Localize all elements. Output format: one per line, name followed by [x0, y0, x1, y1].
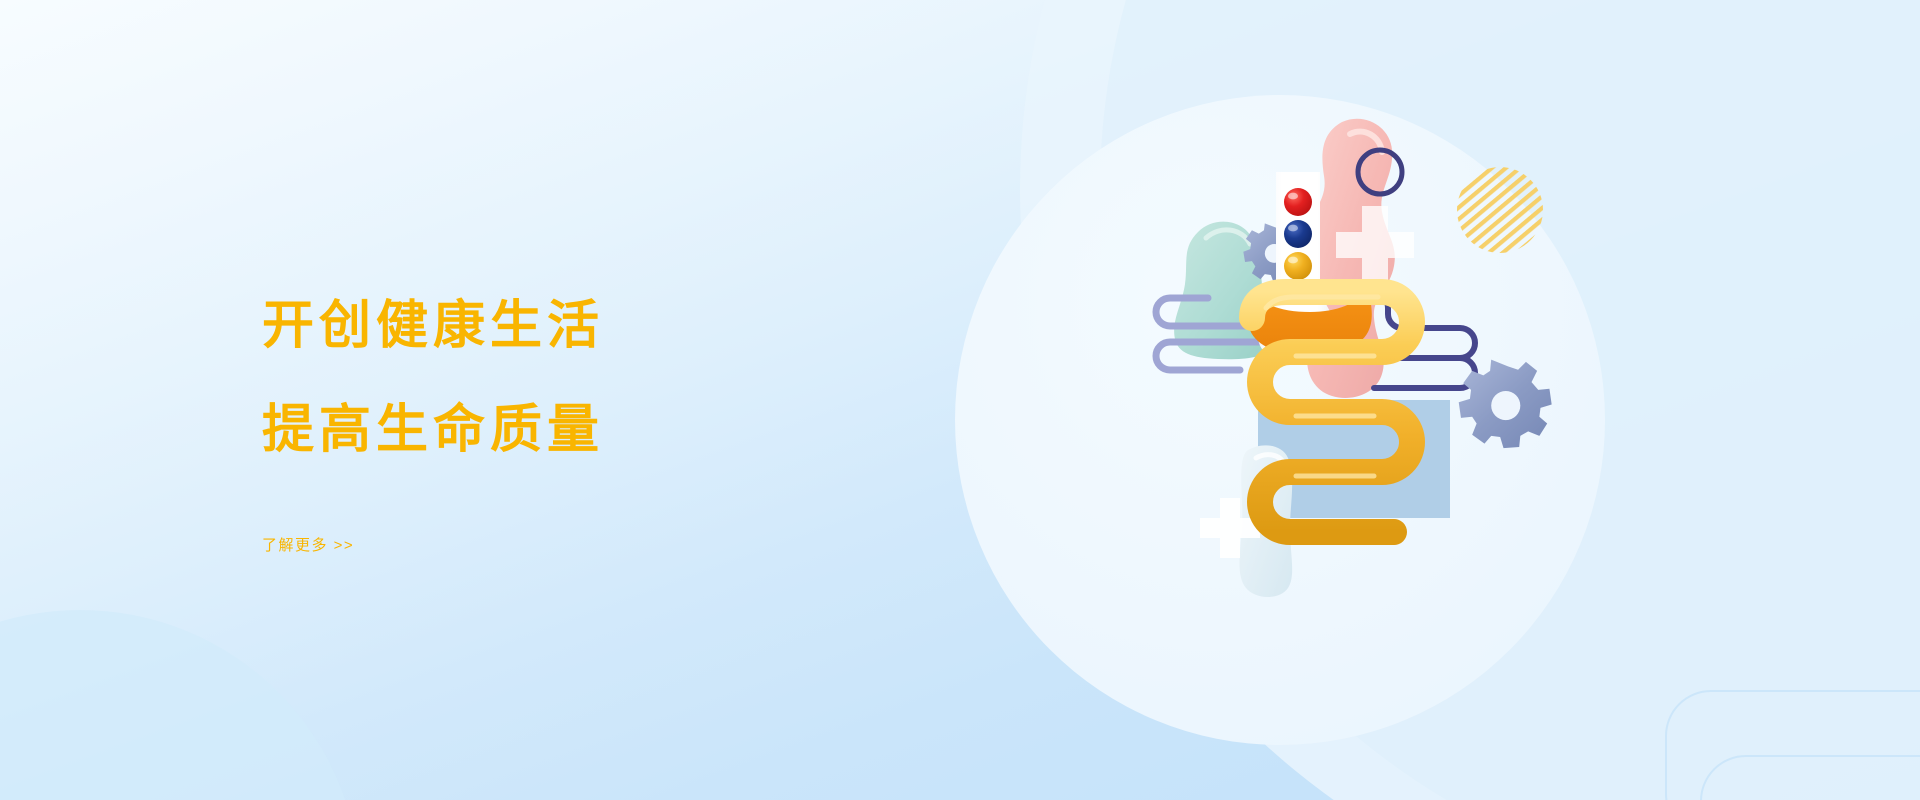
gear-large: [1459, 360, 1552, 448]
pill-navy: [1284, 220, 1312, 248]
hero-banner: 开创健康生活 提高生命质量 了解更多 >>: [0, 0, 1920, 800]
striped-circle: [1440, 150, 1560, 270]
headline-line-2: 提高生命质量: [262, 404, 782, 456]
background-blob-bottom-left: [0, 610, 360, 800]
background-rounded-rect-2: [1700, 755, 1920, 800]
digestive-health-illustration: [1080, 110, 1600, 710]
learn-more-link[interactable]: 了解更多 >>: [262, 534, 354, 555]
hero-copy: 开创健康生活 提高生命质量 了解更多 >>: [262, 300, 782, 555]
pill-yellow: [1284, 252, 1312, 280]
headline-line-1: 开创健康生活: [262, 300, 782, 352]
pill-red: [1284, 188, 1312, 216]
